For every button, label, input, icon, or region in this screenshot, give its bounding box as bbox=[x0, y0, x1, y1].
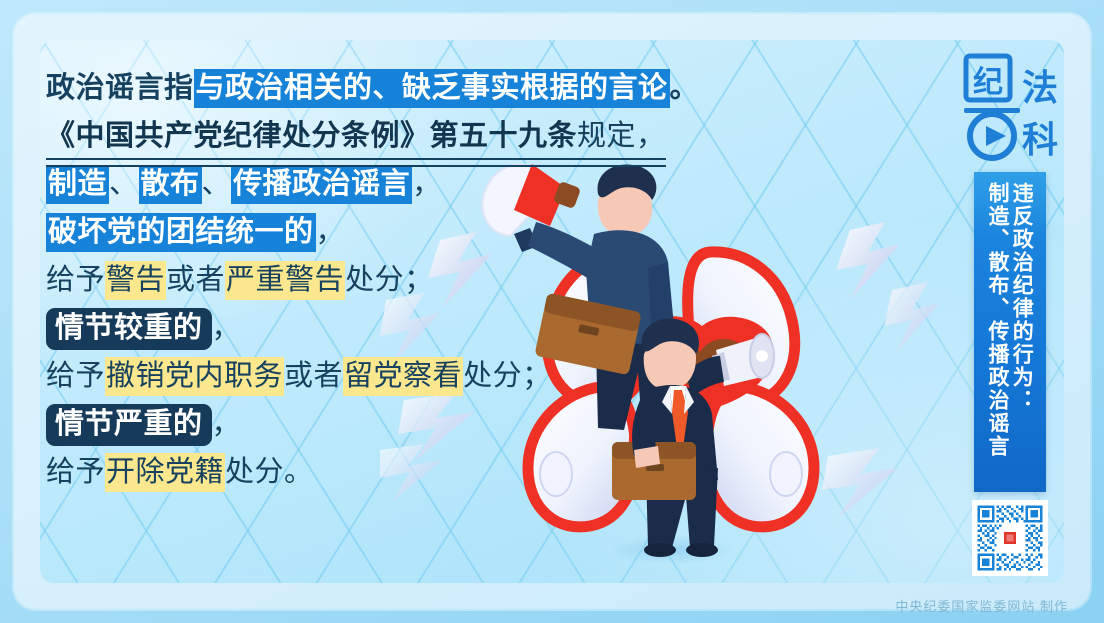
line1-highlight-blue: 与政治相关的、缺乏事实根据的言论 bbox=[194, 69, 670, 108]
line5-highlight-2: 严重警告 bbox=[225, 261, 345, 300]
line7-pre: 给予 bbox=[46, 360, 105, 392]
infographic-poster: 政治谣言指与政治相关的、缺乏事实根据的言论。 《中国共产党纪律处分条例》第五十九… bbox=[0, 0, 1104, 623]
text-line-5: 给予警告或者严重警告处分； bbox=[46, 256, 666, 304]
line7-tail: 处分； bbox=[463, 360, 552, 392]
logo-char-fa: 法 bbox=[1022, 68, 1058, 108]
text-line-2: 《中国共产党纪律处分条例》第五十九条规定， bbox=[46, 112, 666, 160]
line9-highlight-1: 开除党籍 bbox=[105, 453, 225, 492]
text-line-6: 情节较重的， bbox=[46, 304, 666, 352]
regulation-article: 第五十九条 bbox=[430, 120, 578, 152]
line6-tail: ， bbox=[212, 312, 242, 344]
brand-logo-jifa-baike: 纪 法 科 bbox=[962, 52, 1068, 164]
text-line-3: 制造、散布、传播政治谣言， bbox=[46, 160, 666, 208]
line6-pill: 情节较重的 bbox=[46, 308, 212, 350]
line1-plain-end: 。 bbox=[670, 72, 700, 104]
line3-sep-1: 、 bbox=[109, 168, 139, 200]
line9-tail: 处分。 bbox=[225, 456, 314, 488]
line5-highlight-1: 警告 bbox=[105, 261, 166, 300]
text-line-9: 给予开除党籍处分。 bbox=[46, 448, 666, 496]
text-line-4: 破坏党的团结统一的， bbox=[46, 208, 666, 256]
footer-credit: 中央纪委国家监委网站 制作 bbox=[895, 596, 1068, 615]
line1-plain-start: 政治谣言指 bbox=[46, 72, 194, 104]
line8-pill: 情节严重的 bbox=[46, 404, 212, 446]
line4-highlight-1: 破坏党的团结统一的 bbox=[46, 213, 316, 252]
line5-mid: 或者 bbox=[166, 264, 225, 296]
line3-highlight-2: 散布 bbox=[139, 165, 202, 204]
line8-tail: ， bbox=[212, 408, 242, 440]
line2-tail: 规定， bbox=[577, 120, 666, 152]
logo-char-ji: 纪 bbox=[973, 66, 1003, 99]
text-line-1: 政治谣言指与政治相关的、缺乏事实根据的言论。 bbox=[46, 64, 666, 112]
line3-highlight-1: 制造 bbox=[46, 165, 109, 204]
line3-highlight-3: 传播政治谣言 bbox=[231, 165, 412, 204]
text-line-8: 情节严重的， bbox=[46, 400, 666, 448]
line2-underlined-group: 《中国共产党纪律处分条例》第五十九条规定， bbox=[46, 112, 666, 160]
line4-tail: ， bbox=[316, 216, 346, 248]
line3-sep-2: 、 bbox=[202, 168, 232, 200]
line9-pre: 给予 bbox=[46, 456, 105, 488]
line7-highlight-1: 撤销党内职务 bbox=[105, 357, 284, 396]
line5-tail: 处分； bbox=[345, 264, 434, 296]
line7-mid: 或者 bbox=[284, 360, 343, 392]
banner-column-right: 违反政治纪律的行为： bbox=[1011, 182, 1033, 492]
text-line-7: 给予撤销党内职务或者留党察看处分； bbox=[46, 352, 666, 400]
logo-char-ke: 科 bbox=[1022, 120, 1058, 160]
line3-tail: ， bbox=[412, 168, 442, 200]
play-triangle-icon bbox=[986, 126, 1006, 146]
vertical-title-banner: 违反政治纪律的行为： 制造、散布、传播政治谣言 bbox=[974, 172, 1046, 492]
body-text-block: 政治谣言指与政治相关的、缺乏事实根据的言论。 《中国共产党纪律处分条例》第五十九… bbox=[46, 64, 666, 496]
line7-highlight-2: 留党察看 bbox=[343, 357, 463, 396]
banner-column-left: 制造、散布、传播政治谣言 bbox=[987, 182, 1009, 492]
qr-code[interactable] bbox=[972, 500, 1048, 576]
line5-pre: 给予 bbox=[46, 264, 105, 296]
regulation-title: 《中国共产党纪律处分条例》 bbox=[46, 120, 430, 152]
